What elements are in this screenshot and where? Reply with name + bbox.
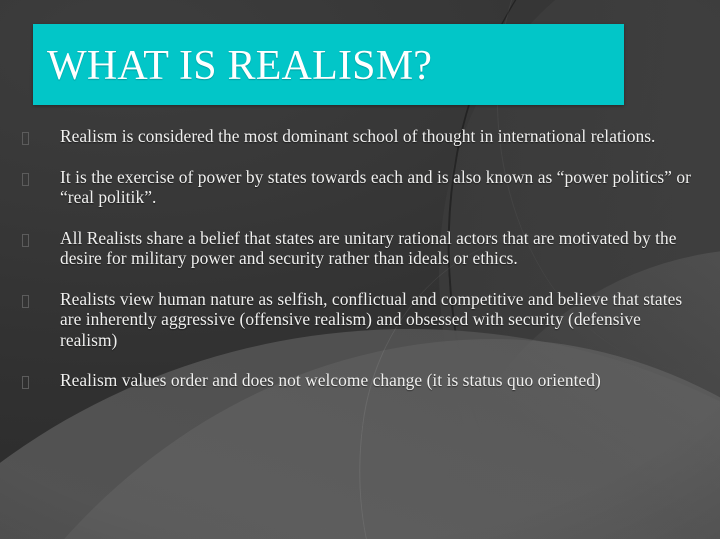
bullet-marker-icon	[22, 234, 29, 247]
list-item: All Realists share a belief that states …	[0, 228, 720, 269]
list-item: Realism values order and does not welcom…	[0, 370, 720, 391]
list-item-text: Realists view human nature as selfish, c…	[60, 289, 696, 351]
bullet-marker-icon	[22, 295, 29, 308]
list-item-text: Realism is considered the most dominant …	[60, 126, 655, 147]
list-item: It is the exercise of power by states to…	[0, 167, 720, 208]
bullet-marker-icon	[22, 173, 29, 186]
list-item: Realists view human nature as selfish, c…	[0, 289, 720, 351]
bullet-marker-icon	[22, 132, 29, 145]
list-item-text: All Realists share a belief that states …	[60, 228, 696, 269]
list-item-text: It is the exercise of power by states to…	[60, 167, 696, 208]
bullet-marker-icon	[22, 376, 29, 389]
presentation-slide: WHAT IS REALISM? Realism is considered t…	[0, 0, 720, 539]
slide-bullet-list: Realism is considered the most dominant …	[0, 126, 720, 411]
list-item-text: Realism values order and does not welcom…	[60, 370, 601, 391]
list-item: Realism is considered the most dominant …	[0, 126, 720, 147]
slide-title-banner: WHAT IS REALISM?	[33, 24, 624, 105]
slide-title: WHAT IS REALISM?	[33, 45, 432, 87]
